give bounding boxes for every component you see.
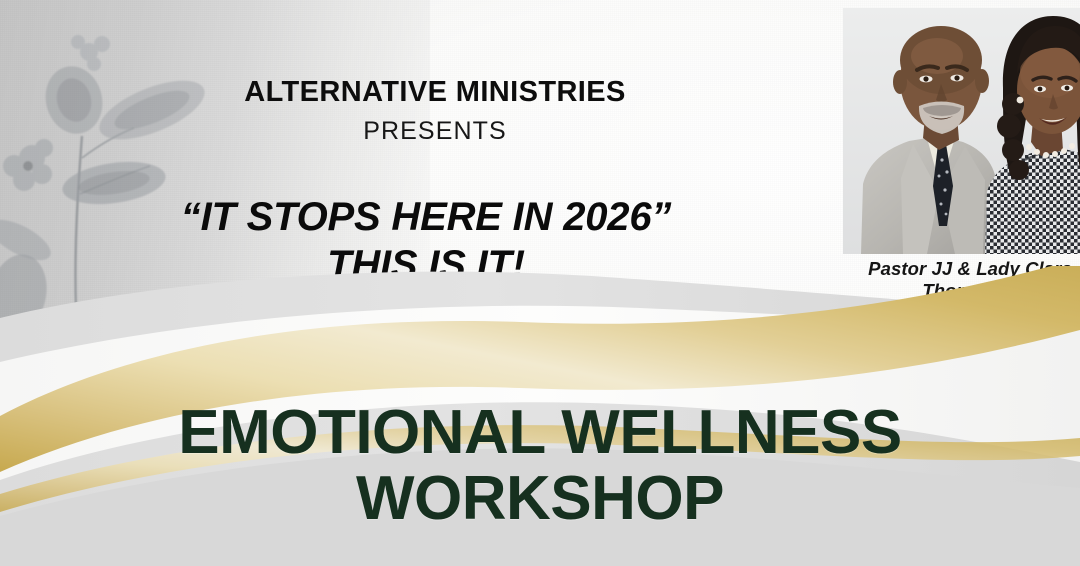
quote-line-1: “IT STOPS HERE IN 2026” — [0, 196, 852, 238]
workshop-title-line2: WORKSHOP — [0, 470, 1080, 528]
workshop-title-line1: EMOTIONAL WELLNESS — [0, 404, 1080, 462]
event-flyer: Pastor JJ & Lady Clara Thompson ALTERNAT… — [0, 0, 1080, 566]
organization-name: ALTERNATIVE MINISTRIES — [0, 78, 870, 107]
organization-heading: ALTERNATIVE MINISTRIES PRESENTS — [0, 78, 1080, 144]
workshop-title: EMOTIONAL WELLNESS WORKSHOP — [0, 404, 1080, 529]
presents-label: PRESENTS — [0, 119, 870, 144]
